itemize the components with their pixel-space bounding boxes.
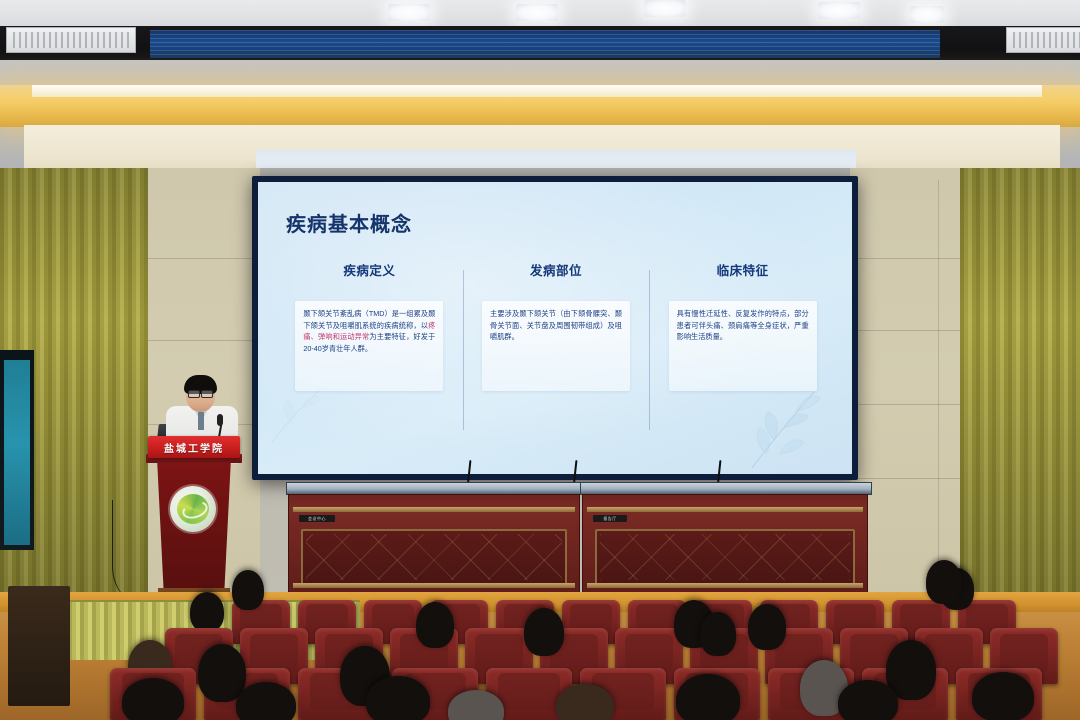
wall-seam [148, 340, 260, 341]
speaker-tie [198, 412, 204, 430]
audience-head [972, 672, 1034, 720]
slide-column-site: 发病部位 主要涉及颞下颌关节（由下颌骨髁突、颞骨关节面、关节盘及周围韧带组成）及… [463, 258, 650, 448]
slat-wall-right [960, 168, 1080, 600]
audience-head [524, 608, 564, 656]
podium-sign-text: 盐城工学院 [164, 440, 224, 455]
table-trim [587, 507, 863, 512]
wall-seam [850, 330, 964, 331]
slide-column-definition: 疾病定义 颞下颌关节紊乱病（TMD）是一组累及颞下颌关节及咀嚼肌系统的疾病统称，… [276, 258, 463, 448]
wall-seam [850, 404, 964, 405]
wall-seam [148, 258, 260, 259]
wall-seam [850, 258, 964, 259]
table-panel-diamonds [301, 529, 567, 585]
column-body-definition: 颞下颌关节紊乱病（TMD）是一组累及颞下颌关节及咀嚼肌系统的疾病统称，以疼痛、弹… [295, 301, 443, 391]
column-heading-definition: 疾病定义 [343, 260, 395, 279]
table-front-left: 会议中心 [288, 494, 580, 594]
table-trim [293, 507, 575, 512]
audience-head [926, 560, 962, 604]
audience-head [838, 680, 898, 720]
slide-title: 疾病基本概念 [286, 208, 412, 237]
truss-blue-panel [150, 30, 940, 58]
university-emblem-icon [170, 486, 216, 532]
side-door-teal-panel [4, 360, 30, 545]
definition-text-part-1: 颞下颌关节紊乱病（TMD）是一组累及颞下颌关节及咀嚼肌系统的疾病统称，以 [303, 309, 435, 330]
slide-columns: 疾病定义 颞下颌关节紊乱病（TMD）是一组累及颞下颌关节及咀嚼肌系统的疾病统称，… [276, 258, 836, 448]
wall-seam [850, 478, 964, 479]
ceiling-downlight [818, 2, 860, 19]
ceiling-downlight [644, 0, 686, 17]
table-label-text: 报告厅 [593, 515, 627, 522]
table-label-plate: 会议中心 [299, 515, 335, 522]
audience-head [122, 678, 184, 720]
table-label-plate: 报告厅 [593, 515, 627, 522]
aisle-railing [8, 586, 70, 706]
air-vent-left [6, 27, 136, 53]
cove-lip [32, 85, 1042, 97]
wall-seam-vertical [938, 180, 939, 598]
audience-head [700, 612, 736, 656]
audience-head [232, 570, 264, 610]
slide-column-features: 临床特征 具有慢性迁延性、反复发作的特点，部分患者可伴头痛、颈肩痛等全身症状，严… [649, 258, 836, 448]
column-body-site: 主要涉及颞下颌关节（由下颌骨髁突、颞骨关节面、关节盘及周围韧带组成）及咀嚼肌群。 [482, 301, 630, 391]
audience-head [748, 604, 786, 650]
microphone-icon [217, 414, 223, 426]
podium-sign: 盐城工学院 [148, 436, 240, 458]
audience-head [236, 682, 296, 720]
audience-head [416, 602, 454, 648]
audience-head [190, 592, 224, 632]
table-trim [293, 583, 575, 588]
ceiling-downlight [910, 6, 944, 23]
column-heading-features: 临床特征 [717, 260, 769, 279]
column-body-features: 具有慢性迁延性、反复发作的特点，部分患者可伴头痛、颈肩痛等全身症状，严重影响生活… [669, 301, 817, 391]
air-vent-right [1006, 27, 1080, 53]
slat-wall-shading [960, 168, 1080, 600]
projection-screen[interactable]: 疾病基本概念 疾病定义 颞下颌关节紊乱病（TMD）是一组累及颞下颌关节及咀嚼肌系… [258, 182, 852, 474]
ceiling-downlight [388, 4, 430, 21]
audience-head [556, 684, 614, 720]
table-trim [587, 583, 863, 588]
ceiling-downlight [516, 4, 558, 21]
column-heading-site: 发病部位 [530, 260, 582, 279]
table-front-right: 报告厅 [582, 494, 868, 594]
audience-head [676, 674, 740, 720]
lecture-hall-photo: 疾病基本概念 疾病定义 颞下颌关节紊乱病（TMD）是一组累及颞下颌关节及咀嚼肌系… [0, 0, 1080, 720]
table-label-text: 会议中心 [299, 515, 335, 522]
podium: 盐城工学院 [146, 430, 242, 602]
table-panel-diamonds [595, 529, 855, 585]
conference-table: 会议中心 报告厅 [288, 482, 868, 594]
audience-head [366, 676, 430, 720]
glasses-icon [188, 390, 213, 396]
